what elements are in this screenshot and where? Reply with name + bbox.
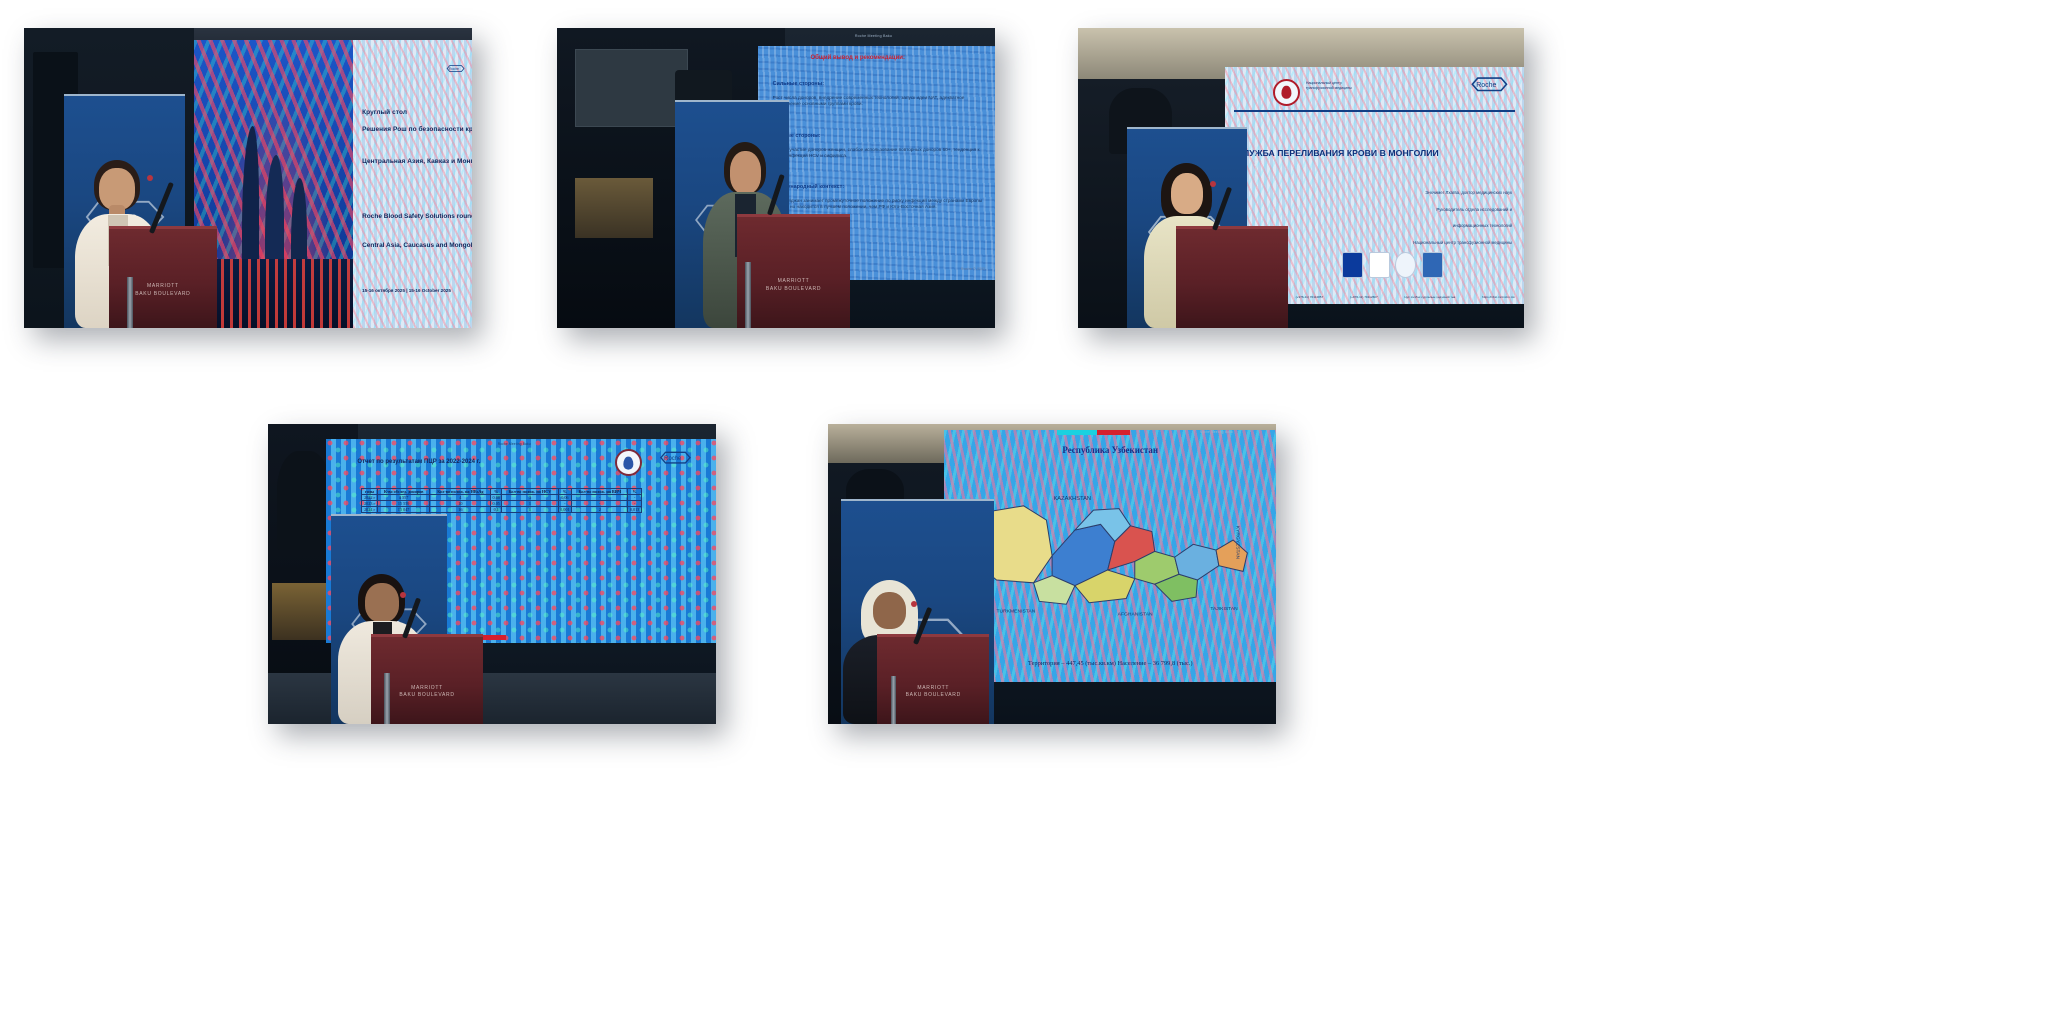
photo-card-5: Республика Узбекистан xyxy=(828,424,1276,724)
slide2-bullet-lead-1: Сильные стороны: xyxy=(773,81,824,87)
venue-brand-label: MARRIOTT BAKU BOULEVARD xyxy=(737,278,851,293)
roche-logo-icon: Roche xyxy=(446,57,465,80)
slide3-org-label: Национальный центр трансфузионной медици… xyxy=(1306,81,1352,90)
photo-card-1: Круглый стол Решения Рош по безопасности… xyxy=(24,28,472,328)
uzbekistan-map: KAZAKHSTAN KYRGYZSTAN TAJIKISTAN TURKMEN… xyxy=(968,485,1253,624)
badge-iso9001-icon xyxy=(1369,252,1390,278)
speaker-cabinet-4 xyxy=(277,451,331,550)
cell-pct2: 0,001 xyxy=(558,506,571,512)
cell-pct1: 0,1 xyxy=(491,506,502,512)
slide1-line-ru-2: Решения Рош по безопасности крови xyxy=(362,126,472,133)
svg-text:Roche: Roche xyxy=(664,456,682,462)
cell-hiv: 2 xyxy=(572,506,628,512)
slide5-top-note: Roche Meeting Baku xyxy=(1200,430,1233,434)
mic-stand-2 xyxy=(745,262,751,328)
slide1-line-ru-1: Круглый стол xyxy=(362,109,407,116)
cell-year: 2022 г xyxy=(362,494,378,500)
city-skyline xyxy=(194,259,352,328)
slide2-heading: Общий вывод и рекомендации: xyxy=(811,55,905,61)
slide1-dates: 15-16 октября 2025 | 15-16 October 2025 xyxy=(362,288,451,293)
contact-facebook: Цус сэлбэх судлалын үндэсний төв xyxy=(1405,295,1456,299)
roche-logo-icon: Roche xyxy=(654,451,697,464)
venue-brand-label: MARRIOTT BAKU BOULEVARD xyxy=(109,283,217,298)
badge-aabb-icon xyxy=(1422,252,1443,278)
shelf-boxes-2 xyxy=(575,178,654,238)
slide1-line-en-1: Roche Blood Safety Solutions round table xyxy=(362,213,472,220)
col-header-hcv: Кол-во полож. по HCV xyxy=(502,488,559,494)
microphone-head-icon xyxy=(911,601,917,607)
svg-text:AFGHANISTAN: AFGHANISTAN xyxy=(1117,612,1152,618)
blood-centre-logo-icon xyxy=(1273,79,1300,106)
slide3-presenter-1: Энхчимег Лхагва, доктор медицинских наук xyxy=(1425,190,1512,195)
speaker-head xyxy=(1171,173,1203,214)
slide2-bullet-text-1: Рост числа доноров, внедрение современны… xyxy=(773,95,986,108)
svg-text:TAJIKISTAN: TAJIKISTAN xyxy=(1210,606,1238,612)
slide5-footer: Территория – 447,45 (тыс.кв.км) Населени… xyxy=(1028,660,1193,667)
photo-collage: Круглый стол Решения Рош по безопасности… xyxy=(0,0,2048,1025)
lectern-3 xyxy=(1176,226,1288,328)
led-screen-5: Республика Узбекистан xyxy=(944,430,1276,682)
slide3-title: СЛУЖБА ПЕРЕЛИВАНИЯ КРОВИ В МОНГОЛИИ xyxy=(1237,148,1439,158)
contact-phone-2: (+976-11) 70112607 xyxy=(1350,295,1378,299)
slide3-divider xyxy=(1234,110,1515,112)
pcr-results-table: годы К-во обслед. доноров Кол-во полож. … xyxy=(361,488,642,513)
screen-edge-cyan xyxy=(1057,430,1097,435)
roche-logo-icon: Roche xyxy=(1470,76,1509,93)
speaker-head xyxy=(730,151,762,194)
slide-image-flame-towers xyxy=(194,40,352,328)
col-header-donors: К-во обслед. доноров xyxy=(377,488,429,494)
slide3-presenter-3: информационных технологий xyxy=(1453,223,1512,228)
cell-year: 2023 г xyxy=(362,500,378,506)
contact-phone-1: (+976-11) 70112857 xyxy=(1296,295,1324,299)
table-row: 2024 г 15 047 16 0,1 1 0,001 2 0,013 xyxy=(362,506,642,512)
banner-side-text-mn: Үндэсний цусны төв xyxy=(1254,142,1259,183)
svg-text:TURKMENISTAN: TURKMENISTAN xyxy=(996,609,1035,615)
slide5-title: Республика Узбекистан xyxy=(1062,445,1158,455)
slide1-line-ru-3: Центральная Азия, Кавказ и Монголия xyxy=(362,158,472,165)
photo-card-3: Национальный центр трансфузионной медици… xyxy=(1078,28,1524,328)
cell-pct1: 0,08 xyxy=(491,494,502,500)
speaker-head xyxy=(99,168,134,210)
microphone-head-icon xyxy=(1210,181,1216,187)
slide4-title: Отчет по результатам ПЦР за 2022-2024 г. xyxy=(357,459,480,465)
mic-stand-5 xyxy=(891,676,896,724)
photo-card-4: Roche Meeting Baku Roche Отчет по резуль… xyxy=(268,424,716,724)
cell-year: 2024 г xyxy=(362,506,378,512)
cell-pct3: 0,013 xyxy=(628,506,642,512)
flame-tower xyxy=(265,155,284,270)
slide3-presenter-4: Национальный центр трансфузионной медици… xyxy=(1413,240,1512,245)
screen-edge-red xyxy=(1097,430,1130,435)
slide2-top-note: Roche Meeting Baku xyxy=(855,34,892,38)
projection-blank-2 xyxy=(575,49,689,127)
slide2-bullet-text-3: Азербайджан занимает промежуточное полож… xyxy=(773,198,986,211)
microphone-head-icon xyxy=(147,175,153,181)
cell-hcv: 1 xyxy=(502,506,559,512)
svg-text:KYRGYZSTAN: KYRGYZSTAN xyxy=(1234,526,1240,560)
slide1-line-en-2: Central Asia, Caucasus and Mongolia xyxy=(362,242,472,249)
slide4-top-note: Roche Meeting Baku xyxy=(498,442,531,446)
contact-website: https://nbtc.mn/nctm.mn xyxy=(1482,295,1515,299)
slide3-presenter-2: Руководитель отдела исследований и xyxy=(1436,207,1512,212)
svg-text:Roche: Roche xyxy=(1476,82,1496,89)
led-screen-1: Круглый стол Решения Рош по безопасности… xyxy=(194,40,472,328)
svg-text:Roche: Roche xyxy=(449,67,459,71)
badge-eu-flag-icon xyxy=(1342,252,1363,278)
col-header-hiv: Кол-во полож. на ВИЧ xyxy=(572,488,628,494)
slide2-bullet-text-2: Низкое участие доноров-женщин, слабое ис… xyxy=(773,147,986,160)
slide-text-panel-1: Круглый стол Решения Рош по безопасности… xyxy=(353,40,472,328)
flame-tower xyxy=(242,126,259,264)
svg-text:KAZAKHSTAN: KAZAKHSTAN xyxy=(1053,497,1091,503)
cell-donors: 15 047 xyxy=(377,506,429,512)
cell-hbsag: 16 xyxy=(430,506,491,512)
lectern-1: MARRIOTT BAKU BOULEVARD xyxy=(109,226,217,328)
mic-stand-1 xyxy=(127,277,133,328)
mic-stand-4 xyxy=(384,673,389,724)
col-header-hbsag: Кол-во полож. на HBsAg xyxy=(430,488,491,494)
speaker-head xyxy=(365,583,399,622)
speaker-head xyxy=(873,592,907,629)
slide2-corner-note: Roche © 2025 xyxy=(961,267,986,271)
shelf-boxes-4 xyxy=(272,583,330,640)
cell-pct1: 0,05 xyxy=(491,500,502,506)
lectern-2: MARRIOTT BAKU BOULEVARD xyxy=(737,214,851,328)
photo-card-2: Общий вывод и рекомендации: Сильные стор… xyxy=(557,28,995,328)
